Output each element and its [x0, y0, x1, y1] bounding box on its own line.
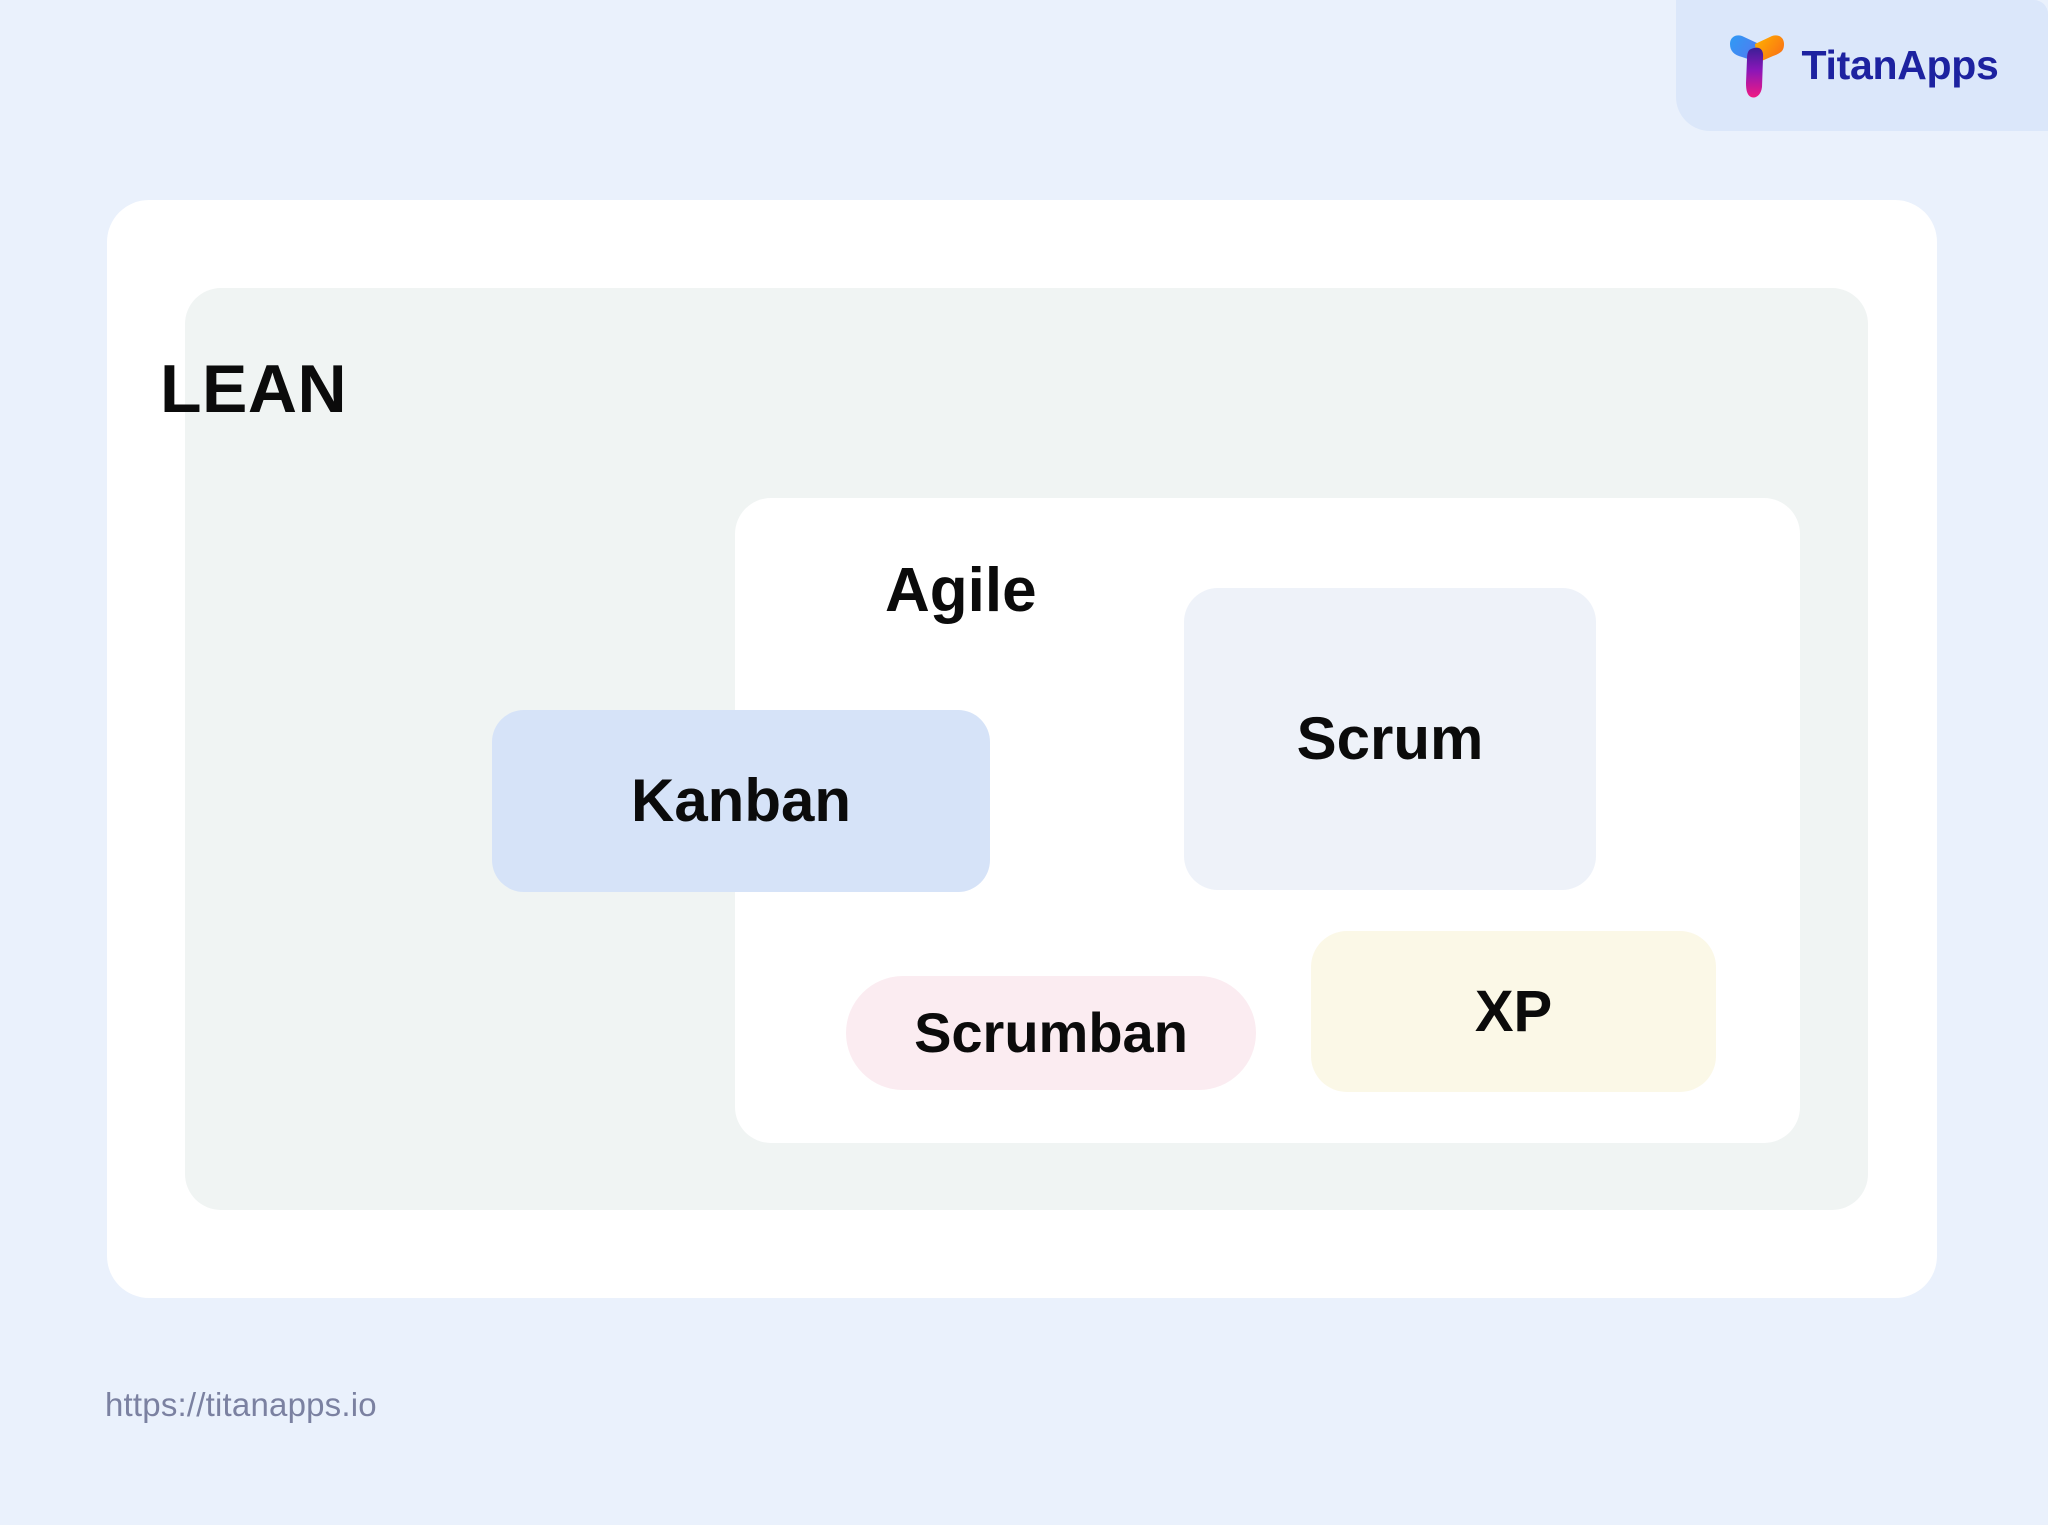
chip-xp[interactable]: XP: [1311, 931, 1716, 1092]
chip-scrum[interactable]: Scrum: [1184, 588, 1596, 890]
titanapps-t-logo-icon: [1726, 33, 1788, 99]
lean-label: LEAN: [160, 355, 347, 423]
brand-badge: TitanApps: [1676, 0, 2048, 131]
agile-label: Agile: [885, 560, 1037, 622]
diagram-canvas: TitanApps LEAN Agile Scrum Scrumban XP K…: [0, 0, 2048, 1525]
chip-kanban[interactable]: Kanban: [492, 710, 990, 892]
footer-url[interactable]: https://titanapps.io: [105, 1385, 377, 1425]
chip-scrumban[interactable]: Scrumban: [846, 976, 1256, 1090]
brand-name: TitanApps: [1802, 45, 1999, 86]
